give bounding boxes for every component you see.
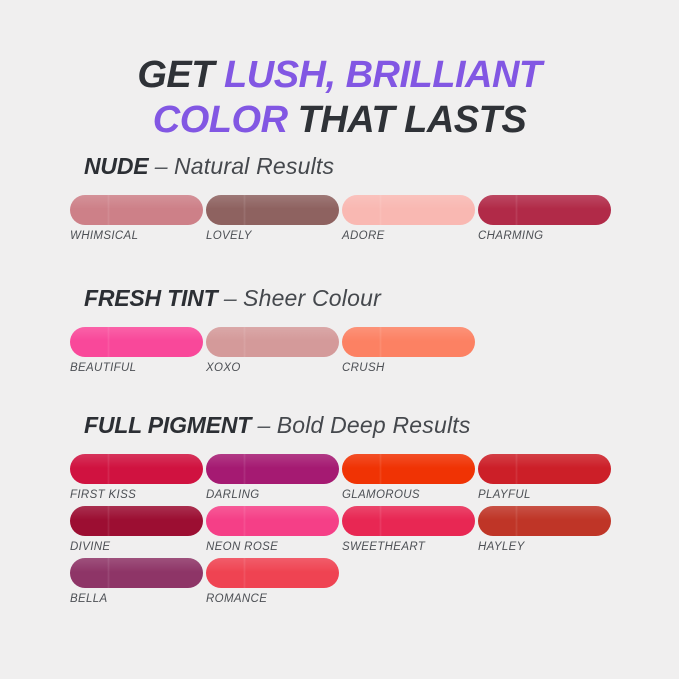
swatch-chip[interactable]: [342, 327, 475, 357]
swatch-xoxo[interactable]: XOXO: [206, 327, 339, 374]
swatch-crush[interactable]: CRUSH: [342, 327, 475, 374]
swatch-chip[interactable]: [70, 454, 203, 484]
swatch-charming[interactable]: CHARMING: [478, 195, 611, 242]
swatch-label: ADORE: [342, 230, 475, 242]
page-title-get: GET: [137, 54, 224, 96]
swatch-grid-nude: WHIMSICAL LOVELY ADORE CHARMING: [0, 195, 679, 247]
swatch-label: WHIMSICAL: [70, 230, 203, 242]
swatch-label: SWEETHEART: [342, 541, 475, 553]
swatch-chip[interactable]: [206, 327, 339, 357]
swatch-darling[interactable]: DARLING: [206, 454, 339, 501]
swatch-chip[interactable]: [206, 454, 339, 484]
swatch-lovely[interactable]: LOVELY: [206, 195, 339, 242]
swatch-chip[interactable]: [342, 195, 475, 225]
swatch-first-kiss[interactable]: FIRST KISS: [70, 454, 203, 501]
swatch-sweetheart[interactable]: SWEETHEART: [342, 506, 475, 553]
section-nude: NUDE – Natural Results WHIMSICAL LOVELY …: [0, 152, 679, 247]
section-header-fresh-tint: FRESH TINT – Sheer Colour: [84, 284, 679, 312]
swatch-chip[interactable]: [70, 195, 203, 225]
swatch-bella[interactable]: BELLA: [70, 558, 203, 605]
swatch-label: PLAYFUL: [478, 489, 611, 501]
swatch-chip[interactable]: [206, 506, 339, 536]
page-title-that-lasts: THAT LASTS: [288, 99, 527, 141]
section-header-nude: NUDE – Natural Results: [84, 152, 679, 180]
swatch-chip[interactable]: [70, 506, 203, 536]
swatch-divine[interactable]: DIVINE: [70, 506, 203, 553]
product-shade-chart: GET LUSH, BRILLIANT COLOR THAT LASTS NUD…: [0, 0, 679, 679]
swatch-beautiful[interactable]: BEAUTIFUL: [70, 327, 203, 374]
swatch-label: HAYLEY: [478, 541, 611, 553]
swatch-chip[interactable]: [478, 506, 611, 536]
section-dash-full-pigment: –: [251, 412, 277, 438]
swatch-label: XOXO: [206, 362, 339, 374]
swatch-neon-rose[interactable]: NEON ROSE: [206, 506, 339, 553]
page-title-color: COLOR: [153, 99, 288, 141]
swatch-label: FIRST KISS: [70, 489, 203, 501]
section-description-nude: Natural Results: [174, 153, 334, 179]
swatch-label: BEAUTIFUL: [70, 362, 203, 374]
swatch-chip[interactable]: [342, 454, 475, 484]
swatch-label: NEON ROSE: [206, 541, 339, 553]
section-dash-nude: –: [148, 153, 174, 179]
swatch-label: BELLA: [70, 593, 203, 605]
swatch-label: DIVINE: [70, 541, 203, 553]
swatch-grid-full-pigment: FIRST KISS DARLING GLAMOROUS PLAYFUL: [0, 454, 679, 610]
section-full-pigment: FULL PIGMENT – Bold Deep Results FIRST K…: [0, 411, 679, 610]
swatch-chip[interactable]: [478, 454, 611, 484]
swatch-chip[interactable]: [206, 558, 339, 588]
swatch-whimsical[interactable]: WHIMSICAL: [70, 195, 203, 242]
swatch-label: CRUSH: [342, 362, 475, 374]
section-header-full-pigment: FULL PIGMENT – Bold Deep Results: [84, 411, 679, 439]
section-category-nude: NUDE: [84, 153, 148, 179]
swatch-label: CHARMING: [478, 230, 611, 242]
swatch-label: ROMANCE: [206, 593, 339, 605]
swatch-glamorous[interactable]: GLAMOROUS: [342, 454, 475, 501]
swatch-label: DARLING: [206, 489, 339, 501]
swatch-row: DIVINE NEON ROSE SWEETHEART HAYLEY: [0, 506, 679, 558]
section-description-full-pigment: Bold Deep Results: [277, 412, 471, 438]
swatch-hayley[interactable]: HAYLEY: [478, 506, 611, 553]
page-title-lush-brilliant: LUSH, BRILLIANT: [224, 54, 542, 96]
swatch-row: BELLA ROMANCE: [0, 558, 679, 610]
swatch-romance[interactable]: ROMANCE: [206, 558, 339, 605]
swatch-label: GLAMOROUS: [342, 489, 475, 501]
swatch-row: WHIMSICAL LOVELY ADORE CHARMING: [0, 195, 679, 247]
section-category-fresh-tint: FRESH TINT: [84, 285, 217, 311]
section-dash-fresh-tint: –: [217, 285, 243, 311]
section-category-full-pigment: FULL PIGMENT: [84, 412, 251, 438]
page-title-line-1: GET LUSH, BRILLIANT: [0, 53, 679, 98]
swatch-chip[interactable]: [206, 195, 339, 225]
page-title: GET LUSH, BRILLIANT COLOR THAT LASTS: [0, 53, 679, 143]
page-title-line-2: COLOR THAT LASTS: [0, 98, 679, 143]
swatch-grid-fresh-tint: BEAUTIFUL XOXO CRUSH: [0, 327, 679, 379]
swatch-label: LOVELY: [206, 230, 339, 242]
section-fresh-tint: FRESH TINT – Sheer Colour BEAUTIFUL XOXO…: [0, 284, 679, 379]
swatch-row: FIRST KISS DARLING GLAMOROUS PLAYFUL: [0, 454, 679, 506]
section-description-fresh-tint: Sheer Colour: [243, 285, 381, 311]
swatch-chip[interactable]: [70, 558, 203, 588]
swatch-row: BEAUTIFUL XOXO CRUSH: [0, 327, 679, 379]
swatch-playful[interactable]: PLAYFUL: [478, 454, 611, 501]
swatch-chip[interactable]: [342, 506, 475, 536]
swatch-chip[interactable]: [70, 327, 203, 357]
swatch-chip[interactable]: [478, 195, 611, 225]
swatch-adore[interactable]: ADORE: [342, 195, 475, 242]
